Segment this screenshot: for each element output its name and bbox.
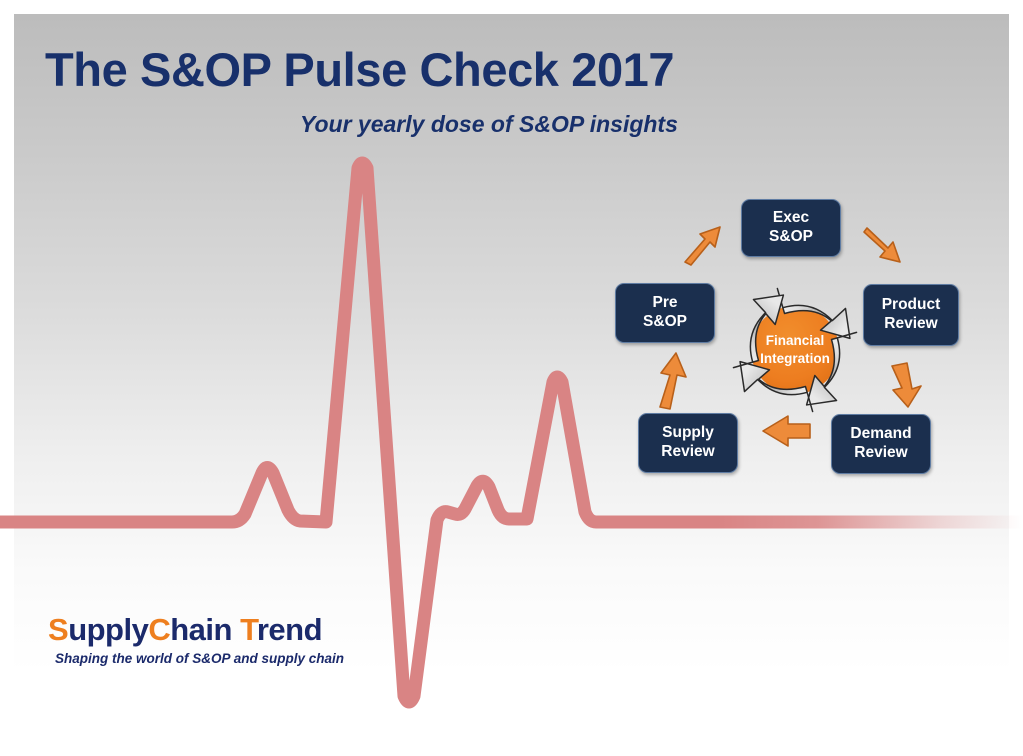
cycle-node-pre-sop[interactable]: Pre S&OP [615, 283, 715, 343]
logo-space [232, 612, 240, 647]
brand-tagline: Shaping the world of S&OP and supply cha… [55, 651, 344, 666]
logo-text-upply: upply [68, 612, 148, 647]
logo-letter-t: T [240, 612, 257, 647]
cycle-node-exec-sop[interactable]: Exec S&OP [741, 199, 841, 257]
brand-logo: SupplyChain Trend Shaping the world of S… [48, 612, 344, 666]
cycle-node-product-review[interactable]: Product Review [863, 284, 959, 346]
cycle-node-supply-review[interactable]: Supply Review [638, 413, 738, 473]
arrow-up-right-icon [685, 227, 720, 265]
logo-text-hain: hain [170, 612, 232, 647]
logo-letter-c: C [148, 612, 170, 647]
arrow-down-right-icon [864, 228, 900, 262]
brand-logo-wordmark: SupplyChain Trend [48, 612, 344, 648]
arrow-down-icon [892, 363, 921, 407]
logo-letter-s: S [48, 612, 68, 647]
cycle-node-demand-review[interactable]: Demand Review [831, 414, 931, 474]
slide-canvas: The S&OP Pulse Check 2017 Your yearly do… [0, 0, 1023, 756]
logo-text-rend: rend [257, 612, 322, 647]
arrow-left-icon [763, 416, 810, 446]
page-subtitle: Your yearly dose of S&OP insights [300, 111, 678, 138]
sop-cycle-diagram: Financial Integration Exec S&OP Product … [610, 185, 975, 490]
financial-integration-hub [725, 280, 865, 420]
arrow-up-icon [660, 353, 686, 409]
page-title: The S&OP Pulse Check 2017 [45, 42, 674, 97]
